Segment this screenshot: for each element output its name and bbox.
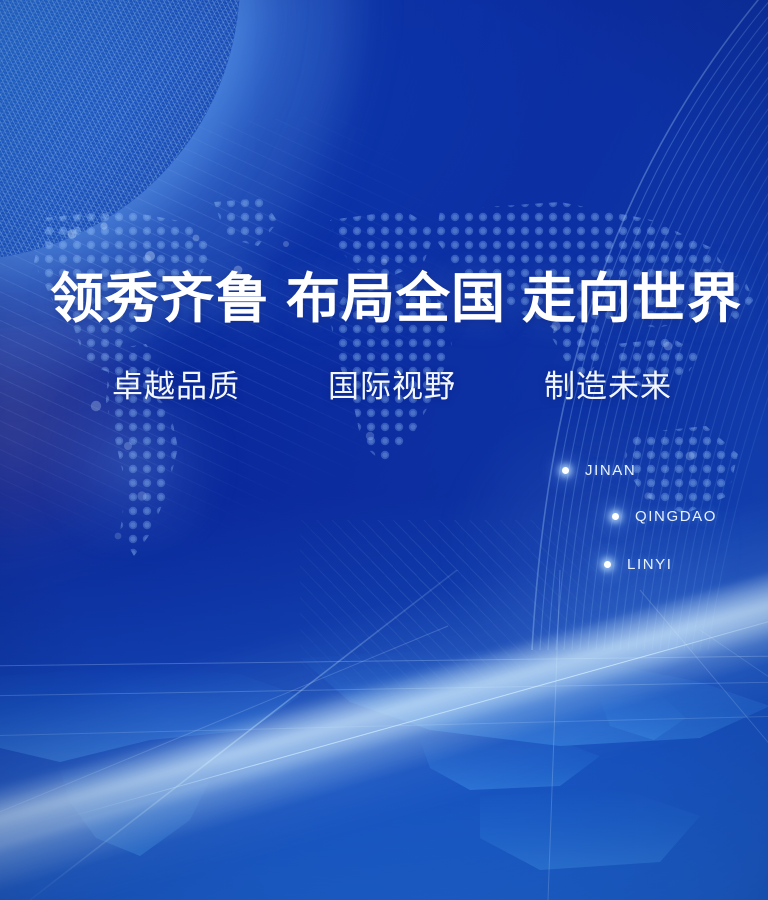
- city-marker-label: JINAN: [585, 462, 636, 479]
- city-marker-label: LINYI: [627, 556, 673, 573]
- city-marker-label: QINGDAO: [635, 508, 717, 525]
- banner-subheadline: 卓越品质 国际视野 制造未来: [112, 370, 672, 405]
- headline-segment-3: 走向世界: [522, 269, 742, 329]
- headline-segment-2: 布局全国: [286, 269, 506, 329]
- map-pin-glow-dot-icon: [604, 561, 611, 568]
- city-marker-jinan[interactable]: JINAN: [562, 462, 636, 479]
- city-marker-linyi[interactable]: LINYI: [604, 556, 673, 573]
- subheadline-item-2: 国际视野: [328, 370, 456, 405]
- map-pin-glow-dot-icon: [562, 467, 569, 474]
- banner-headline: 领秀齐鲁布局全国走向世界: [50, 272, 730, 326]
- subheadline-item-3: 制造未来: [544, 370, 672, 405]
- headline-segment-1: 领秀齐鲁: [50, 269, 270, 329]
- banner-stage: 领秀齐鲁布局全国走向世界 卓越品质 国际视野 制造未来 JINAN QINGDA…: [0, 0, 768, 900]
- banner-copy: 领秀齐鲁布局全国走向世界 卓越品质 国际视野 制造未来 JINAN QINGDA…: [0, 0, 768, 900]
- city-marker-qingdao[interactable]: QINGDAO: [612, 508, 717, 525]
- subheadline-item-1: 卓越品质: [112, 370, 240, 405]
- map-pin-glow-dot-icon: [612, 513, 619, 520]
